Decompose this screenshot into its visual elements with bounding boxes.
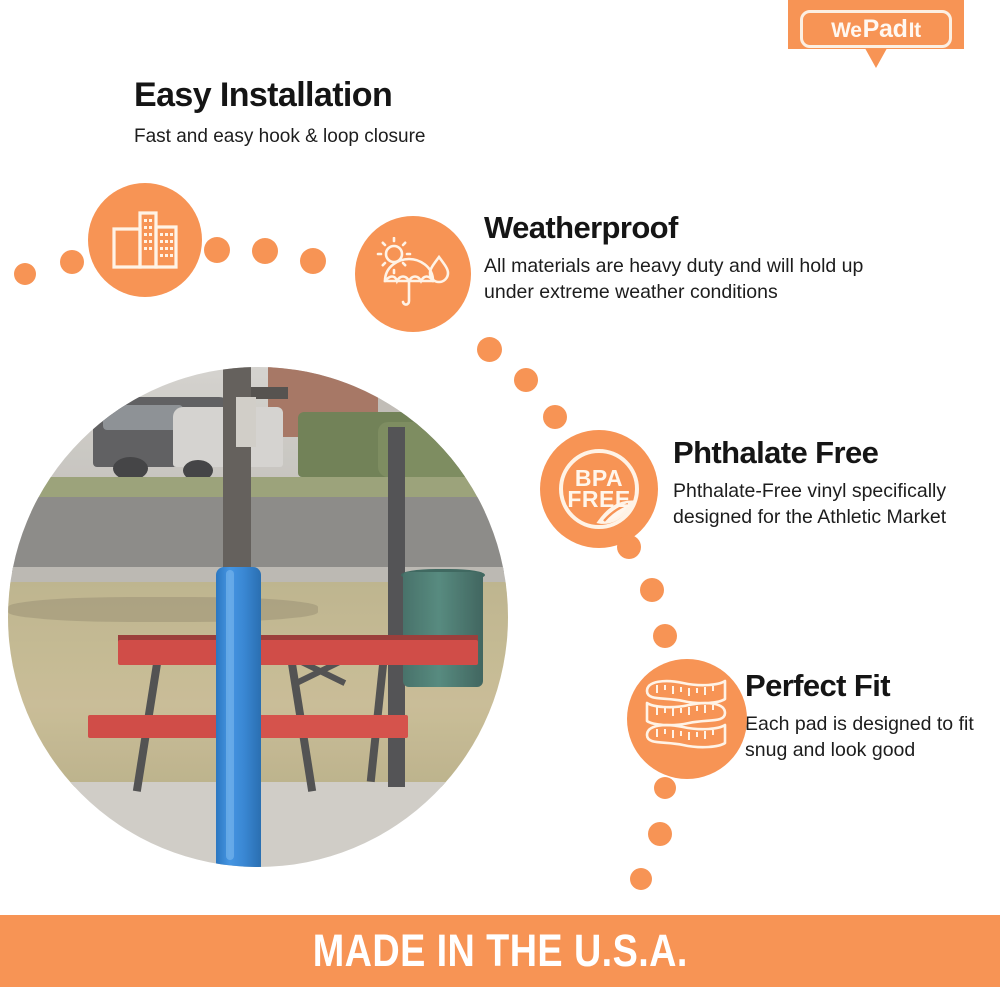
logo-outline: We Pad It xyxy=(800,10,952,48)
feature-title: Phthalate Free xyxy=(673,437,973,470)
logo-text: We Pad It xyxy=(831,17,921,42)
path-dot xyxy=(648,822,672,846)
measuring-tape-icon xyxy=(627,659,747,779)
path-dot xyxy=(204,237,230,263)
path-dot xyxy=(60,250,84,274)
logo-text-we: We xyxy=(831,20,862,41)
feature-title: Weatherproof xyxy=(484,212,914,245)
path-dot xyxy=(14,263,36,285)
path-dot xyxy=(252,238,278,264)
product-photo xyxy=(8,367,508,867)
bpa-badge-text: BPA FREE xyxy=(540,468,658,510)
umbrella-sun-raindrop-icon xyxy=(355,216,471,332)
path-dot xyxy=(653,624,677,648)
feature-title: Perfect Fit xyxy=(745,670,985,703)
feature-perfect-fit: Perfect Fit Each pad is designed to fit … xyxy=(745,670,985,764)
path-dot xyxy=(617,535,641,559)
path-dot xyxy=(630,868,652,890)
path-dot xyxy=(300,248,326,274)
feature-weatherproof: Weatherproof All materials are heavy dut… xyxy=(484,212,914,306)
infographic-canvas: We Pad It Easy Installation Fast and eas… xyxy=(0,0,1000,987)
path-dot xyxy=(654,777,676,799)
feature-description: All materials are heavy duty and will ho… xyxy=(484,253,914,306)
building-icon xyxy=(88,183,202,297)
path-dot xyxy=(640,578,664,602)
logo-text-pad: Pad xyxy=(863,17,908,42)
brand-logo[interactable]: We Pad It xyxy=(788,0,964,68)
feature-title: Easy Installation xyxy=(134,78,564,114)
path-dot xyxy=(514,368,538,392)
feature-description: Each pad is designed to fit snug and loo… xyxy=(745,711,985,764)
path-dot xyxy=(543,405,567,429)
feature-phthalate-free: Phthalate Free Phthalate-Free vinyl spec… xyxy=(673,437,973,531)
made-in-usa-text: MADE IN THE U.S.A. xyxy=(312,925,687,977)
feature-description: Phthalate-Free vinyl specifically design… xyxy=(673,478,973,531)
bpa-free-leaf-icon: BPA FREE xyxy=(540,430,658,548)
logo-text-it: It xyxy=(909,20,921,41)
bpa-line-2: FREE xyxy=(540,489,658,510)
feature-description: Fast and easy hook & loop closure xyxy=(134,124,564,150)
path-dot xyxy=(477,337,502,362)
feature-easy-installation: Easy Installation Fast and easy hook & l… xyxy=(134,78,564,150)
photo-overlay xyxy=(8,367,508,867)
made-in-usa-banner: MADE IN THE U.S.A. xyxy=(0,915,1000,987)
